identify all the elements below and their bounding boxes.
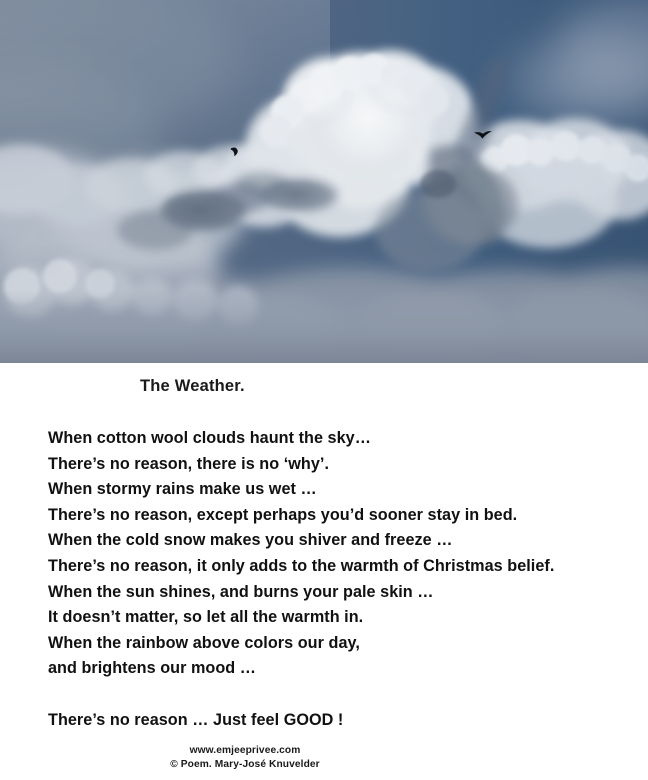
poem-line: When the sun shines, and burns your pale… xyxy=(48,580,638,606)
poem-line: There’s no reason, there is no ‘why’. xyxy=(48,452,638,478)
storm-clouds-photograph xyxy=(0,0,648,363)
poem-page: The Weather. When cotton wool clouds hau… xyxy=(0,0,648,780)
page-title: The Weather. xyxy=(140,377,245,396)
poem-body: When cotton wool clouds haunt the sky… T… xyxy=(48,426,638,733)
poem-line: When cotton wool clouds haunt the sky… xyxy=(48,426,638,452)
poem-content-area: The Weather. When cotton wool clouds hau… xyxy=(0,363,648,780)
poem-line: When the cold snow makes you shiver and … xyxy=(48,528,638,554)
footer-copyright-credit: © Poem. Mary-José Knuvelder xyxy=(0,758,648,772)
poem-line: There’s no reason, except perhaps you’d … xyxy=(48,503,638,529)
poem-line-blank xyxy=(48,682,638,708)
poem-line: There’s no reason, it only adds to the w… xyxy=(48,554,638,580)
poem-line: When stormy rains make us wet … xyxy=(48,477,638,503)
poem-line: When the rainbow above colors our day, xyxy=(48,631,638,657)
poem-line-final: There’s no reason … Just feel GOOD ! xyxy=(48,708,638,734)
footer-website[interactable]: www.emjeeprivee.com xyxy=(0,744,648,758)
poem-line: It doesn’t matter, so let all the warmth… xyxy=(48,605,638,631)
footer: www.emjeeprivee.com © Poem. Mary-José Kn… xyxy=(0,744,648,772)
poem-line: and brightens our mood … xyxy=(48,656,638,682)
